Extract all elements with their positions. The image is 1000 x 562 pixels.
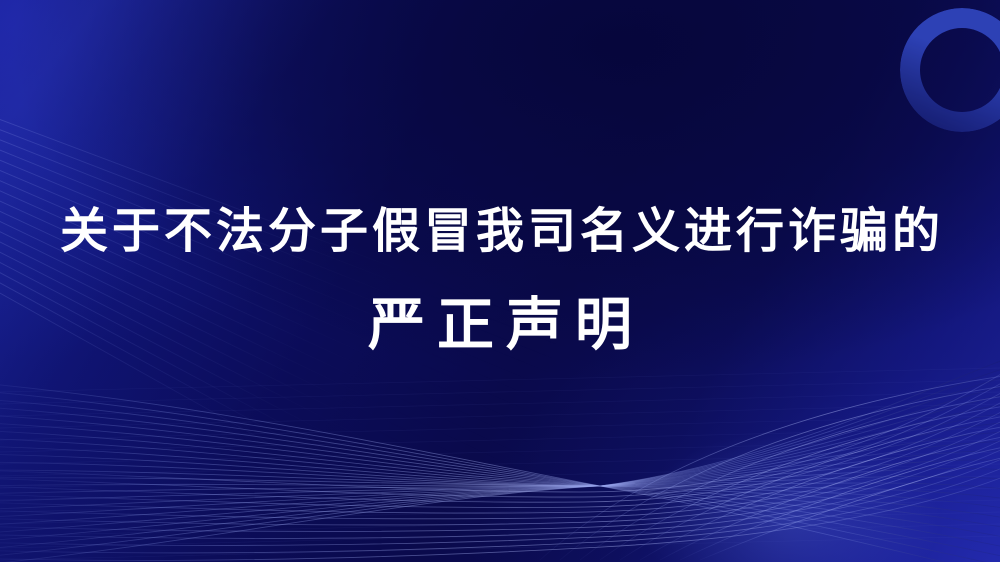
notice-banner: 关于不法分子假冒我司名义进行诈骗的 严正声明	[0, 0, 1000, 562]
headline-block: 关于不法分子假冒我司名义进行诈骗的 严正声明	[0, 0, 1000, 562]
headline-line-1: 关于不法分子假冒我司名义进行诈骗的	[56, 208, 944, 256]
headline-line-2: 严正声明	[356, 297, 644, 354]
